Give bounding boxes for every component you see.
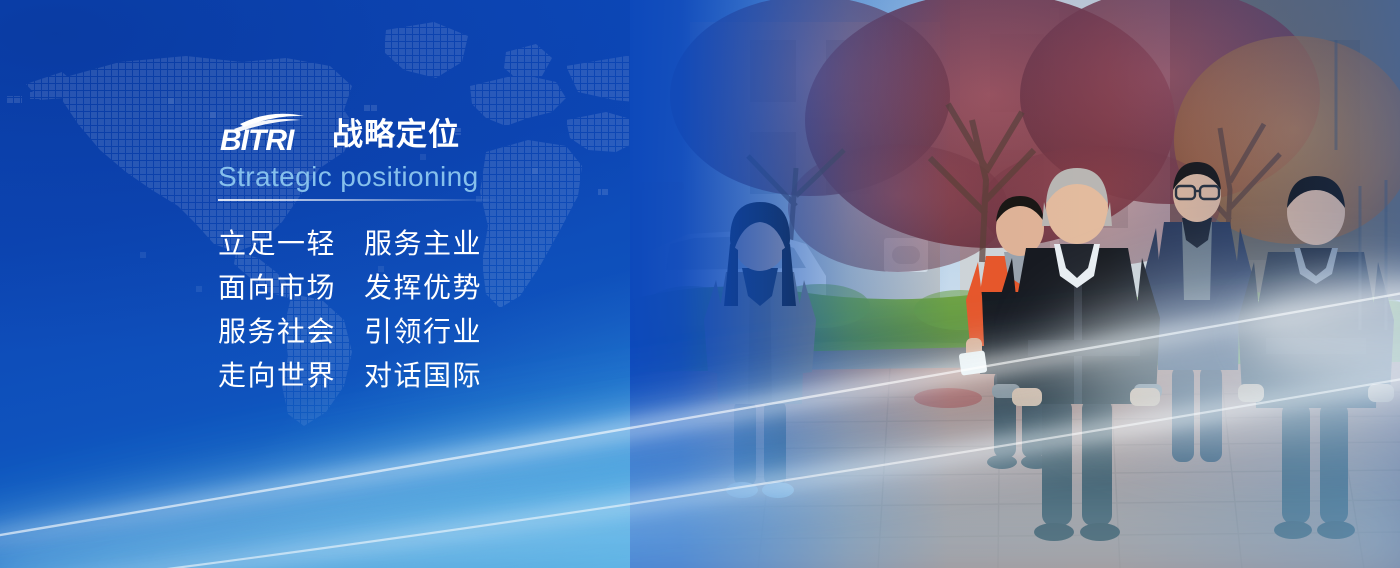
slogan-left: 面向市场: [218, 266, 364, 310]
slogan-right: 对话国际: [364, 354, 482, 398]
banner-content: BITRI 战略定位 Strategic positioning 立足一轻 服务…: [218, 108, 738, 398]
slogan-right: 引领行业: [364, 310, 482, 354]
slogan-left: 走向世界: [218, 354, 364, 398]
people-walking-photo: [630, 0, 1400, 568]
slogan-right: 发挥优势: [364, 266, 482, 310]
headline-chinese: 战略定位: [332, 118, 460, 152]
slogan-line: 立足一轻 服务主业: [218, 222, 738, 266]
slogan-line: 走向世界 对话国际: [218, 354, 738, 398]
subheadline-english: Strategic positioning: [218, 160, 738, 194]
brand-lockup: BITRI 战略定位: [218, 108, 738, 154]
bitri-logo: BITRI: [218, 110, 318, 154]
title-divider: [218, 199, 498, 201]
slogan-line: 面向市场 发挥优势: [218, 266, 738, 310]
slogan-line: 服务社会 引领行业: [218, 310, 738, 354]
slogan-left: 服务社会: [218, 310, 364, 354]
hero-banner: BITRI 战略定位 Strategic positioning 立足一轻 服务…: [0, 0, 1400, 568]
bitri-wordmark-text: BITRI: [220, 124, 295, 154]
slogan-left: 立足一轻: [218, 222, 364, 266]
slogan-list: 立足一轻 服务主业 面向市场 发挥优势 服务社会 引领行业 走向世界 对话国际: [218, 222, 738, 398]
slogan-right: 服务主业: [364, 222, 482, 266]
